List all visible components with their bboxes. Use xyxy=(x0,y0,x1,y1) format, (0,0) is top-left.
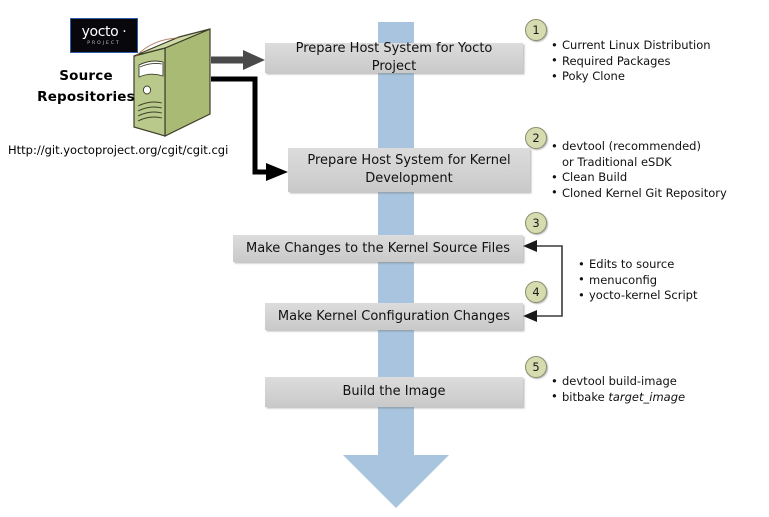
bitbake-target-argument: target_image xyxy=(608,390,685,404)
source-label-line-1: Source xyxy=(34,66,138,87)
list-item: devtool build-image xyxy=(551,374,685,390)
list-item: yocto-kernel Script xyxy=(578,288,698,304)
step-5-bullet-list: devtool build-image bitbake target_image xyxy=(551,374,685,405)
list-item: menuconfig xyxy=(578,273,698,289)
list-item: Cloned Kernel Git Repository xyxy=(551,186,727,202)
step-number-1: 1 xyxy=(525,19,547,41)
source-label-line-2: Repositories xyxy=(34,87,138,108)
source-repositories-url: Http://git.yoctoproject.org/cgit/cgit.cg… xyxy=(8,143,228,157)
yocto-project-logo: yocto · PROJECT xyxy=(70,18,138,53)
steps-3-4-bullet-list: Edits to source menuconfig yocto-kernel … xyxy=(578,257,698,304)
step-number-2: 2 xyxy=(525,127,547,149)
process-box-prepare-host-yocto[interactable]: Prepare Host System for Yocto Project xyxy=(265,43,523,73)
bitbake-command-prefix: bitbake xyxy=(562,390,608,404)
diagram-canvas: yocto · PROJECT Prepare H xyxy=(0,0,769,517)
process-box-make-config-changes[interactable]: Make Kernel Configuration Changes xyxy=(265,303,523,330)
step-number-5: 5 xyxy=(525,356,547,378)
list-item: Current Linux Distribution xyxy=(551,38,711,54)
list-item: bitbake target_image xyxy=(551,390,685,406)
logo-submark: PROJECT xyxy=(87,40,120,47)
list-item: Poky Clone xyxy=(551,69,711,85)
logo-wordmark: yocto · xyxy=(82,25,127,39)
server-tower-icon xyxy=(133,26,211,139)
process-box-prepare-host-kernel[interactable]: Prepare Host System for Kernel Developme… xyxy=(288,148,530,192)
step-number-4: 4 xyxy=(525,281,547,303)
list-item: Edits to source xyxy=(578,257,698,273)
list-item: devtool (recommended) or Traditional eSD… xyxy=(551,139,714,170)
list-item: Clean Build xyxy=(551,170,727,186)
source-repositories-label: Source Repositories xyxy=(34,66,138,108)
step-number-3: 3 xyxy=(525,212,547,234)
list-item: Required Packages xyxy=(551,54,711,70)
process-box-build-image[interactable]: Build the Image xyxy=(265,377,523,407)
step-1-bullet-list: Current Linux Distribution Required Pack… xyxy=(551,38,711,85)
step-2-bullet-list: devtool (recommended) or Traditional eSD… xyxy=(551,139,727,201)
process-box-make-source-changes[interactable]: Make Changes to the Kernel Source Files xyxy=(233,235,523,262)
